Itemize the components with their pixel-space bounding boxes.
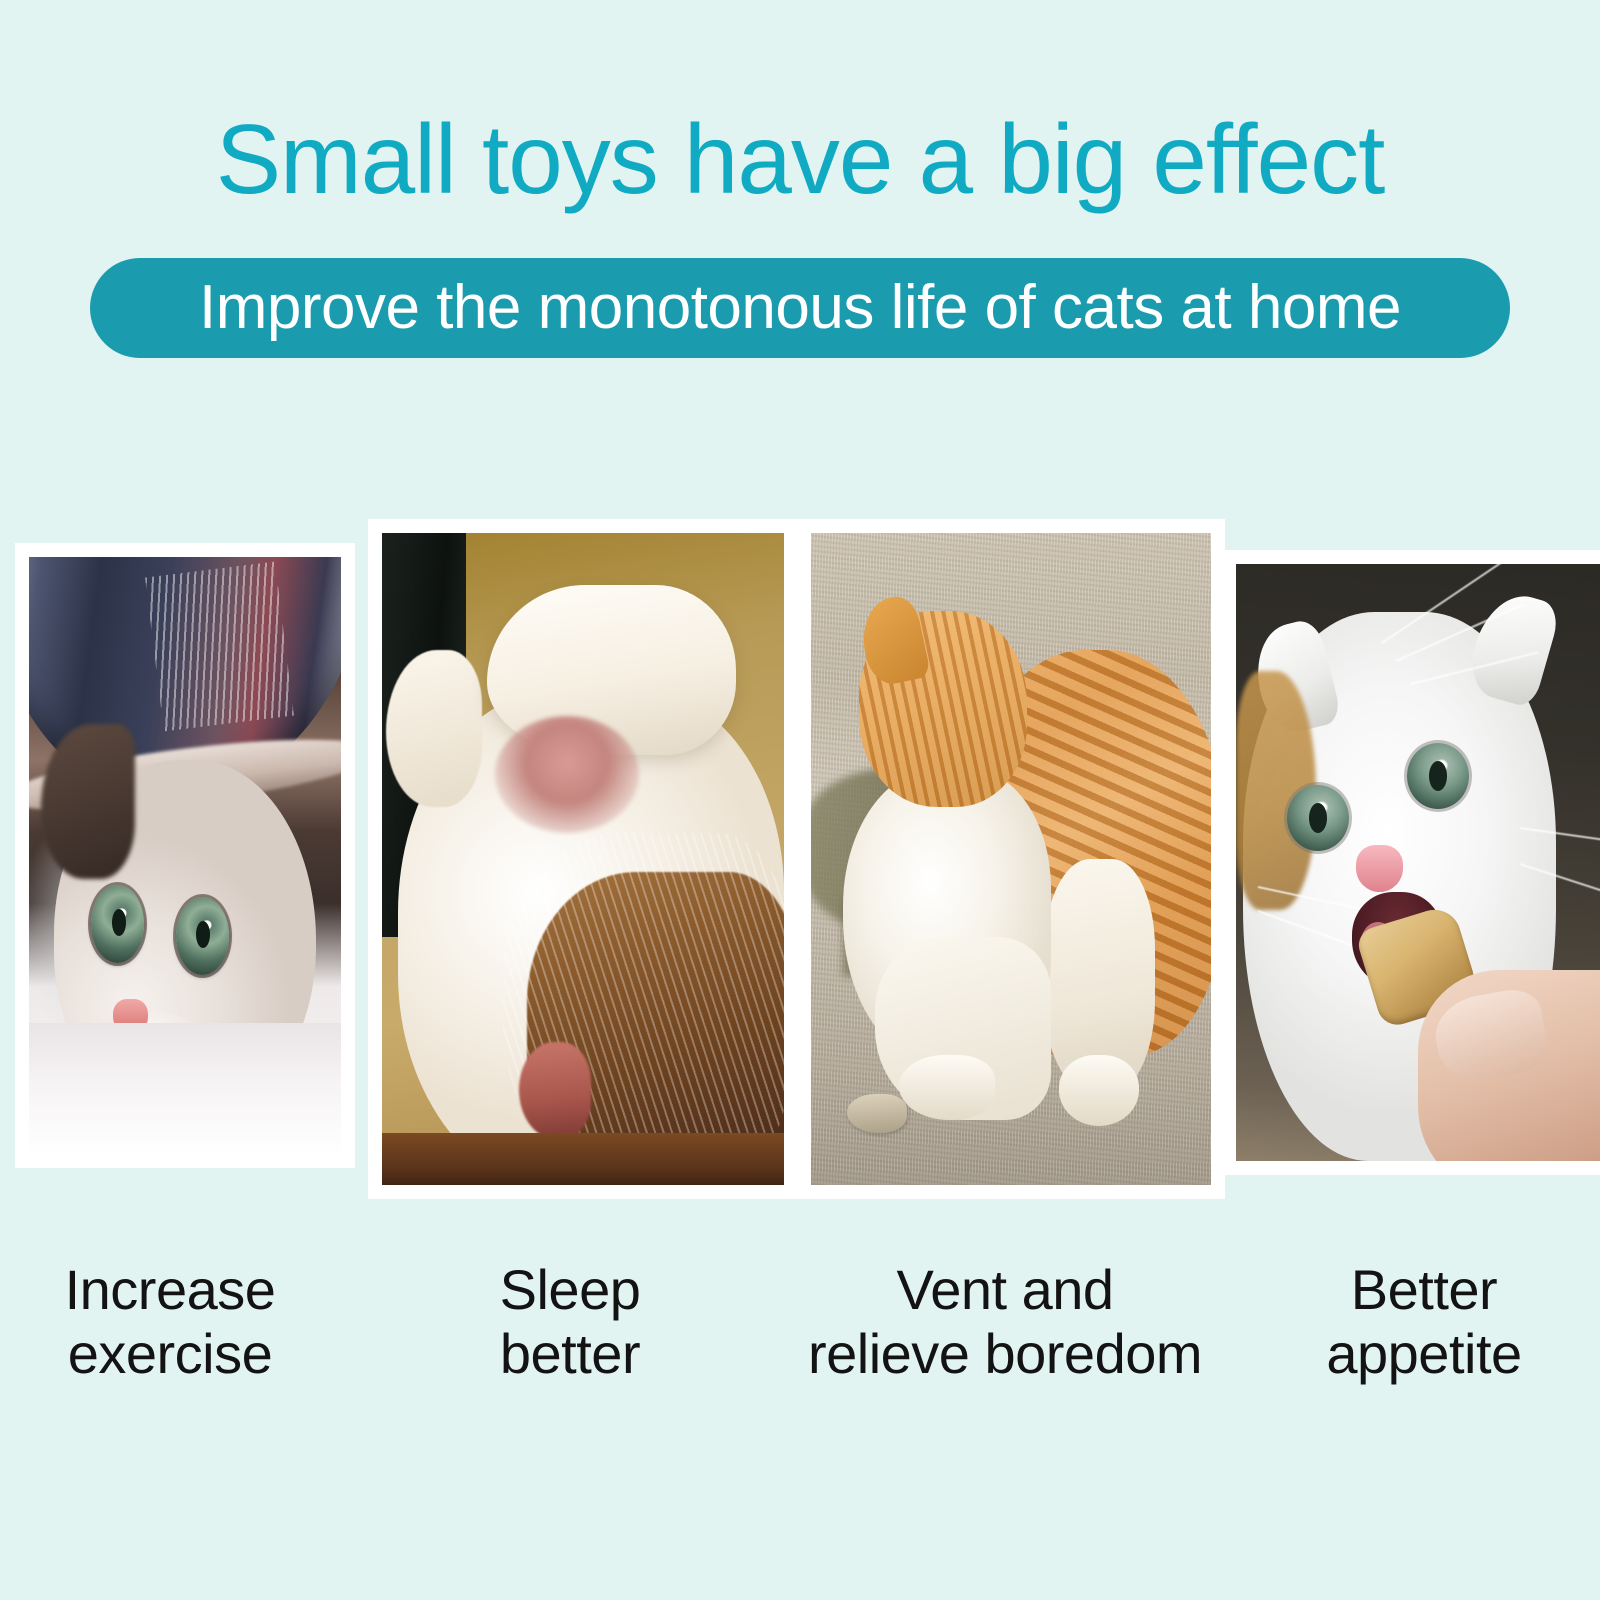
floor-edge — [382, 1133, 784, 1185]
sleeping-cat-photo — [382, 533, 784, 1185]
caption-vent-relieve-boredom: Vent and relieve boredom — [790, 1258, 1220, 1386]
blanket-weave — [145, 562, 294, 732]
cat-eating-treat-photo — [1236, 564, 1600, 1161]
caption-line: exercise — [0, 1322, 340, 1386]
caption-increase-exercise: Increase exercise — [0, 1258, 340, 1386]
caption-sleep-better: Sleep better — [370, 1258, 770, 1386]
photo-card-vent-relieve-boredom — [797, 519, 1225, 1199]
cat-pupil-right — [1429, 761, 1447, 791]
cat-ear — [41, 724, 135, 879]
cat-pupil-right — [196, 921, 210, 948]
caption-line: relieve boredom — [790, 1322, 1220, 1386]
caption-line: better — [370, 1322, 770, 1386]
caption-line: Increase — [0, 1258, 340, 1322]
scratching-kitten-photo — [811, 533, 1211, 1185]
bedding — [29, 1023, 341, 1154]
subtitle-text: Improve the monotonous life of cats at h… — [199, 275, 1401, 341]
cat-pupil-left — [1309, 803, 1327, 833]
cat-under-blanket-photo — [29, 557, 341, 1154]
kitten-paw-front — [899, 1055, 995, 1120]
photo-card-sleep-better — [368, 519, 798, 1199]
cat-paw-left — [386, 650, 482, 806]
caption-line: Vent and — [790, 1258, 1220, 1322]
caption-line: Sleep — [370, 1258, 770, 1322]
photo-card-increase-exercise — [15, 543, 355, 1168]
cat-chin — [495, 716, 640, 833]
cat-pupil-left — [112, 909, 126, 936]
promo-banner: Small toys have a big effect Improve the… — [0, 0, 1600, 1600]
cat-nose — [519, 1042, 591, 1140]
pebble — [847, 1094, 907, 1133]
caption-line: appetite — [1248, 1322, 1600, 1386]
photo-card-better-appetite — [1222, 550, 1600, 1175]
subtitle-banner: Improve the monotonous life of cats at h… — [90, 258, 1510, 358]
caption-line: Better — [1248, 1258, 1600, 1322]
kitten-paw-rear — [1059, 1055, 1139, 1127]
caption-better-appetite: Better appetite — [1248, 1258, 1600, 1386]
page-title: Small toys have a big effect — [0, 104, 1600, 214]
photo-gallery — [0, 500, 1600, 1200]
